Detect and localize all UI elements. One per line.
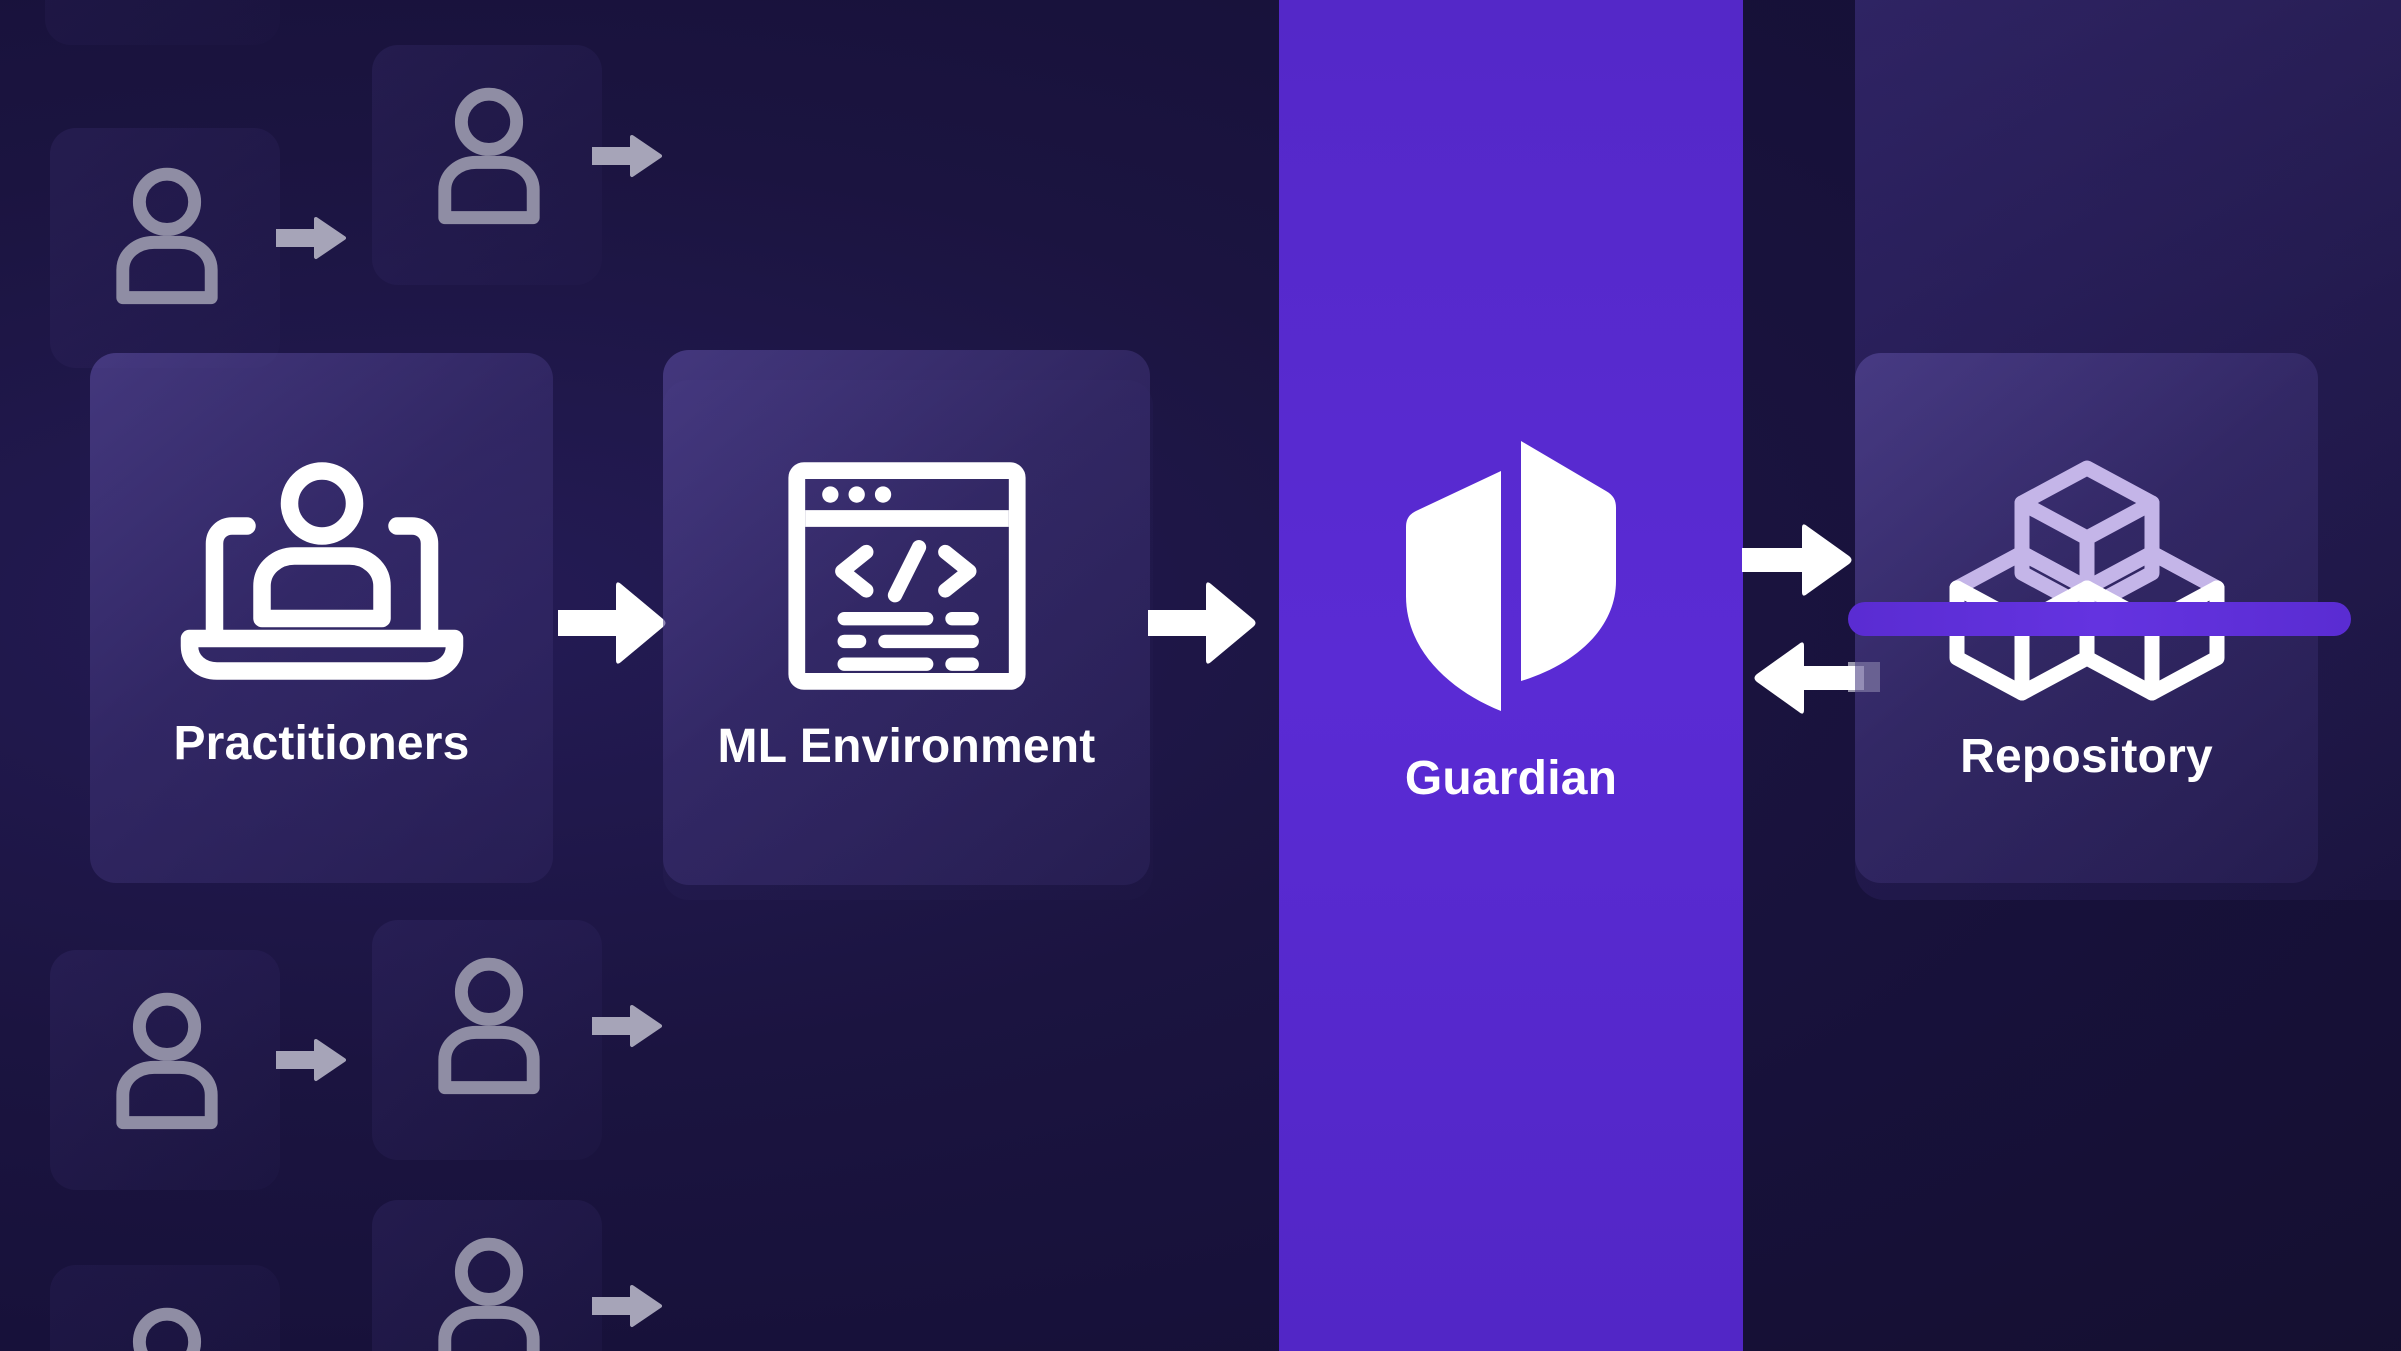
stage-label-guardian: Guardian	[1405, 751, 1617, 806]
small-arrow-right-icon	[592, 1003, 662, 1049]
decor-card	[372, 920, 602, 1160]
decor-card	[372, 45, 602, 285]
stage-label-practitioners: Practitioners	[173, 716, 469, 771]
user-outline-icon	[108, 165, 226, 305]
stage-label-repository: Repository	[1960, 729, 2213, 784]
stage-card-ml-environment[interactable]: ML Environment	[663, 350, 1150, 885]
user-outline-icon	[108, 990, 226, 1130]
decor-card	[50, 1265, 280, 1351]
diagram-canvas: Practitioners	[0, 0, 2401, 1351]
stage-card-guardian[interactable]: Guardian	[1279, 353, 1743, 883]
arrow-guardian-to-repository	[1742, 522, 1854, 600]
user-outline-icon	[108, 1305, 226, 1351]
user-outline-icon	[430, 85, 548, 225]
small-arrow-right-icon	[592, 133, 662, 179]
decor-card	[50, 128, 280, 368]
code-window-icon	[787, 461, 1027, 691]
repository-scan-bar	[1848, 602, 2351, 636]
three-cubes-icon	[1942, 453, 2232, 703]
decor-card	[50, 950, 280, 1190]
person-at-laptop-icon	[172, 466, 472, 686]
shield-icon	[1396, 431, 1626, 721]
stage-card-practitioners[interactable]: Practitioners	[90, 353, 553, 883]
stage-label-ml-environment: ML Environment	[718, 719, 1096, 774]
arrow-ml-environment-to-guardian	[1148, 578, 1258, 668]
small-arrow-right-icon	[276, 1037, 346, 1083]
decor-card	[372, 1200, 602, 1351]
small-arrow-right-icon	[276, 215, 346, 261]
arrow-repository-to-guardian	[1752, 640, 1864, 718]
arrow-practitioners-to-ml-environment	[558, 578, 668, 668]
decor-card	[45, 0, 280, 45]
user-outline-icon	[430, 1235, 548, 1351]
user-outline-icon	[430, 955, 548, 1095]
small-arrow-right-icon	[592, 1283, 662, 1329]
